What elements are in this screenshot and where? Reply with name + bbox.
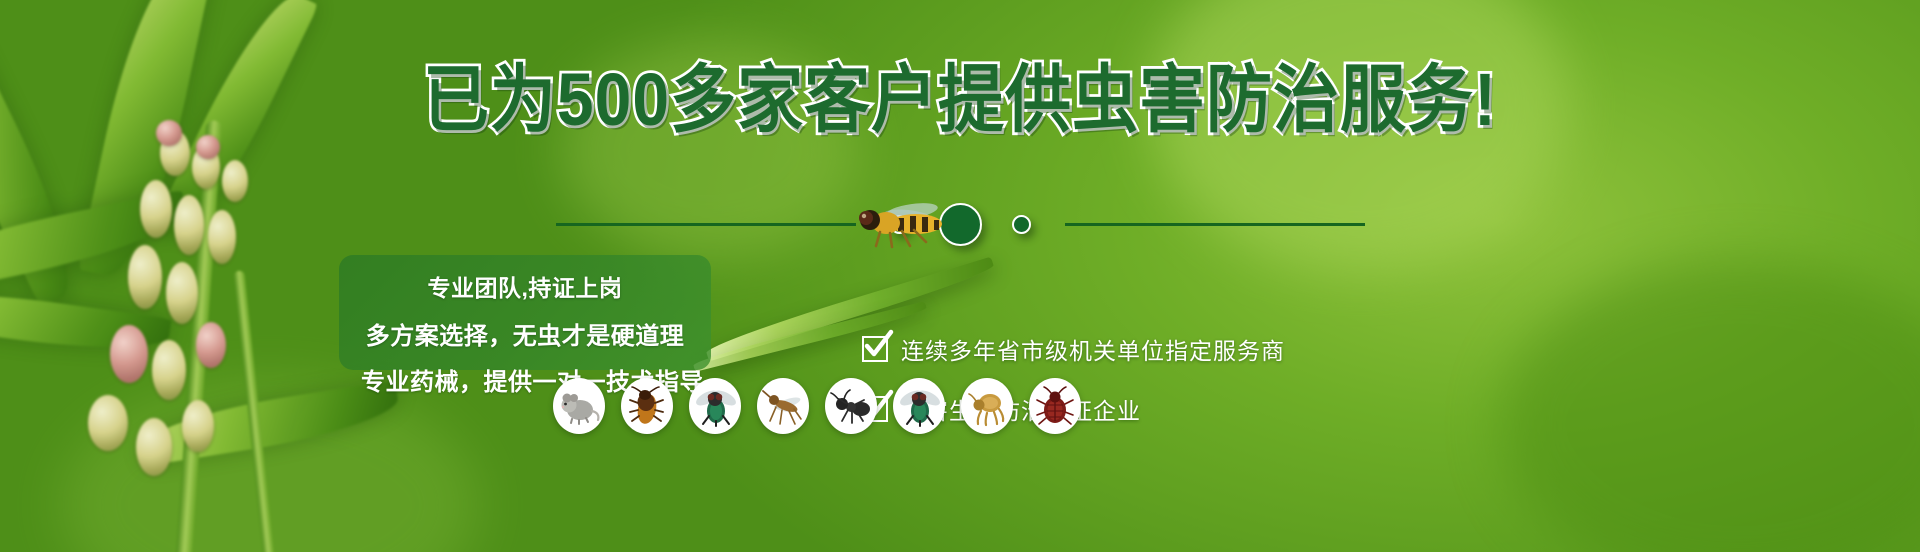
certification-text: 连续多年省市级机关单位指定服务商	[901, 332, 1285, 366]
ant-icon	[830, 385, 872, 427]
divider-line-right	[1065, 223, 1365, 226]
hoverfly-icon	[852, 198, 956, 256]
headline-container: 已为500多家客户提供虫害防治服务!	[0, 66, 1920, 132]
divider-dot-small-right	[1012, 215, 1031, 234]
pest-icon-flea[interactable]	[961, 378, 1013, 434]
pest-icon-cockroach[interactable]	[621, 378, 673, 434]
pest-icon-mosquito[interactable]	[757, 378, 809, 434]
pest-icon-bedbug[interactable]	[1029, 378, 1081, 434]
blowfly-icon	[898, 385, 940, 427]
feature-line-1: 专业团队,持证上岗	[361, 269, 689, 303]
pest-icon-ant[interactable]	[825, 378, 877, 434]
pest-icon-rodent[interactable]	[553, 378, 605, 434]
cockroach-icon	[626, 385, 668, 427]
list-item: 连续多年省市级机关单位指定服务商	[862, 332, 1285, 366]
pest-icon-row	[553, 378, 1081, 434]
fly-icon	[694, 385, 736, 427]
rodent-icon	[558, 385, 600, 427]
mosquito-icon	[762, 385, 804, 427]
decorative-divider	[0, 203, 1920, 246]
pest-control-banner: 已为500多家客户提供虫害防治服务! 专业团队,持证上岗 多方案选择，无虫才是硬…	[0, 0, 1920, 552]
feature-panel: 专业团队,持证上岗 多方案选择，无虫才是硬道理 专业药械，提供一对一技术指导	[339, 255, 711, 370]
page-title: 已为500多家客户提供虫害防治服务!	[423, 62, 1497, 136]
checkbox-checked-icon	[862, 336, 888, 362]
feature-line-2: 多方案选择，无虫才是硬道理	[361, 316, 689, 351]
pest-icon-blowfly[interactable]	[893, 378, 945, 434]
divider-line-left	[556, 223, 856, 226]
bedbug-icon	[1034, 385, 1076, 427]
pest-icon-fly[interactable]	[689, 378, 741, 434]
flea-icon	[966, 385, 1008, 427]
